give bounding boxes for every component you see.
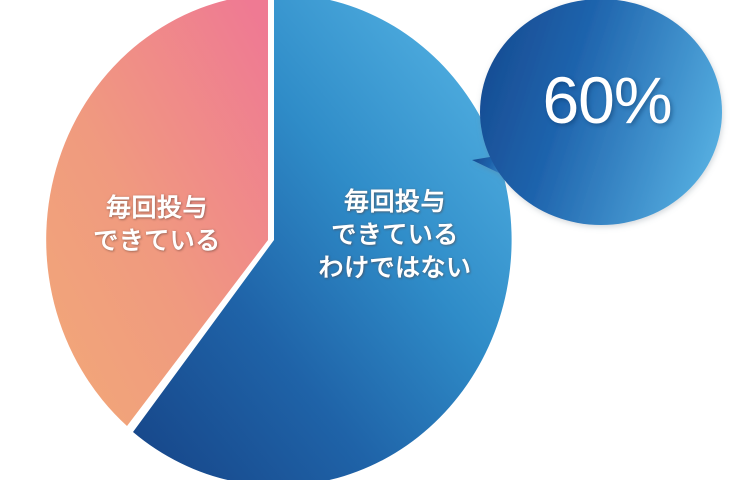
pie-slices	[46, 0, 511, 480]
callout-bubble-shape	[480, 0, 722, 225]
pie-chart-svg	[0, 0, 744, 480]
pie-chart-figure: 毎回投与 できている 毎回投与 できている わけではない 60%	[0, 0, 744, 480]
percent-callout-bubble[interactable]	[472, 0, 722, 225]
